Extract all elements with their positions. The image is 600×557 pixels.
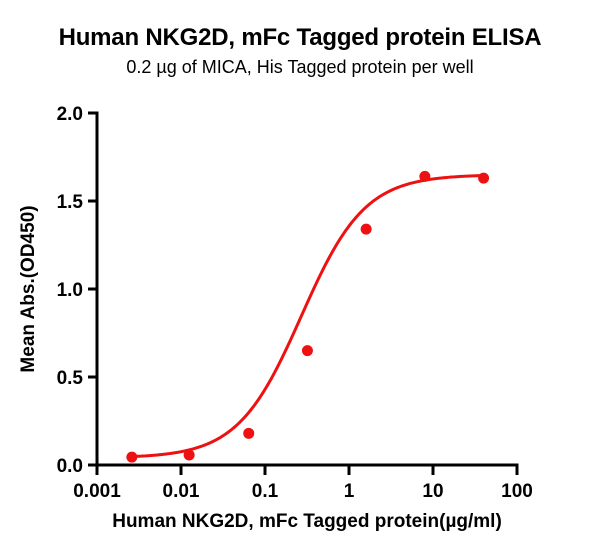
data-point — [184, 449, 195, 460]
x-tick-label: 0.01 — [163, 481, 200, 502]
x-tick-label: 1 — [344, 481, 355, 502]
x-axis-title: Human NKG2D, mFc Tagged protein(µg/ml) — [112, 511, 502, 532]
x-tick-label: 10 — [422, 481, 443, 502]
data-point — [302, 345, 313, 356]
data-points — [126, 171, 489, 463]
plot-area: 0.00.51.01.52.0 0.0010.010.1110100 Mean … — [0, 0, 600, 557]
data-point — [361, 224, 372, 235]
x-tick-label: 0.1 — [252, 481, 279, 502]
x-tick-label: 100 — [501, 481, 533, 502]
data-point — [419, 171, 430, 182]
data-point — [126, 452, 137, 463]
data-point — [243, 428, 254, 439]
fit-curve — [132, 176, 484, 457]
x-axis-tick-labels: 0.0010.010.1110100 — [73, 481, 533, 502]
y-tick-label: 1.0 — [57, 280, 83, 301]
y-axis-title: Mean Abs.(OD450) — [18, 205, 39, 372]
y-tick-label: 0.5 — [57, 368, 84, 389]
data-point — [478, 173, 489, 184]
y-tick-label: 2.0 — [57, 104, 83, 125]
elisa-chart-figure: Human NKG2D, mFc Tagged protein ELISA 0.… — [0, 0, 600, 557]
x-tick-label: 0.001 — [73, 481, 121, 502]
y-tick-label: 1.5 — [57, 192, 84, 213]
y-tick-label: 0.0 — [57, 456, 83, 477]
y-axis-tick-labels: 0.00.51.01.52.0 — [57, 104, 84, 477]
axis-lines — [97, 113, 517, 465]
